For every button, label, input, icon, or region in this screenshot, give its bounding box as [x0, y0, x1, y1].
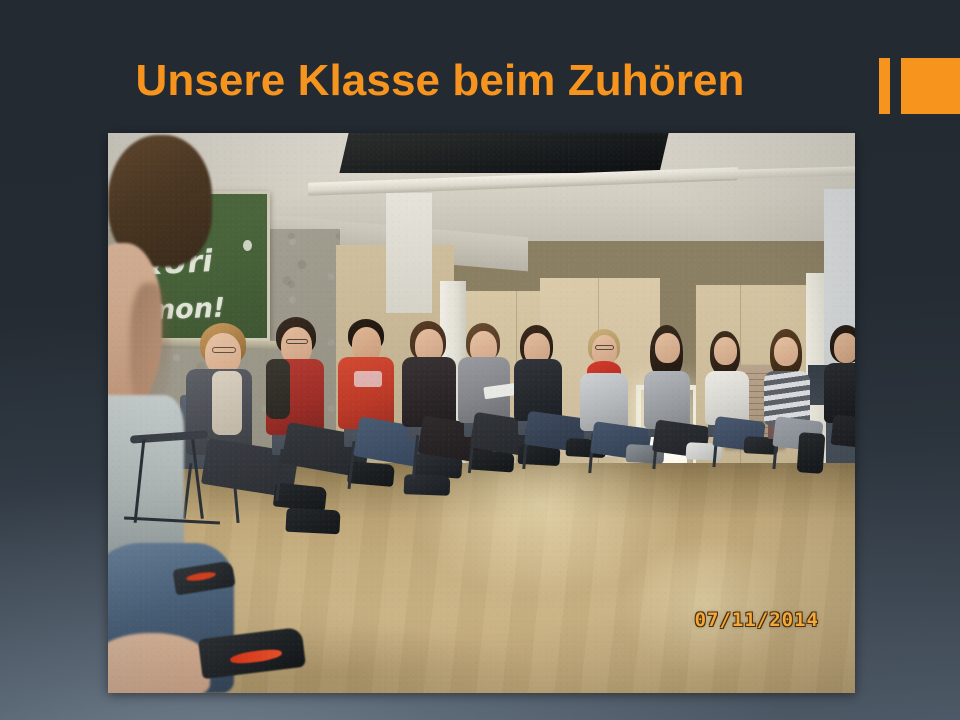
presentation-slide: Unsere Klasse beim Zuhören	[0, 0, 960, 720]
hoodie-print	[354, 371, 382, 387]
skylight	[339, 133, 668, 173]
white-wall-column	[386, 193, 432, 313]
foreground-knee	[108, 633, 210, 693]
chalk-mark	[243, 240, 252, 251]
foreground-face-shadow	[130, 283, 170, 413]
page-title: Unsere Klasse beim Zuhören	[0, 52, 880, 110]
eyeglasses-icon	[595, 345, 614, 350]
photo-scene: en &Uri mon!	[108, 133, 855, 693]
dark-jacket	[266, 359, 290, 419]
accent-block-icon	[901, 58, 960, 114]
eyeglasses-icon	[286, 339, 308, 344]
title-bar: Unsere Klasse beim Zuhören	[0, 52, 960, 114]
photo-date-stamp: 07/11/2014	[695, 609, 819, 631]
orange-corner-accent	[879, 58, 960, 114]
accent-gap	[890, 58, 901, 114]
classroom-photo: en &Uri mon!	[108, 133, 855, 693]
accent-bar-icon	[879, 58, 890, 114]
foreground-student	[108, 133, 222, 693]
